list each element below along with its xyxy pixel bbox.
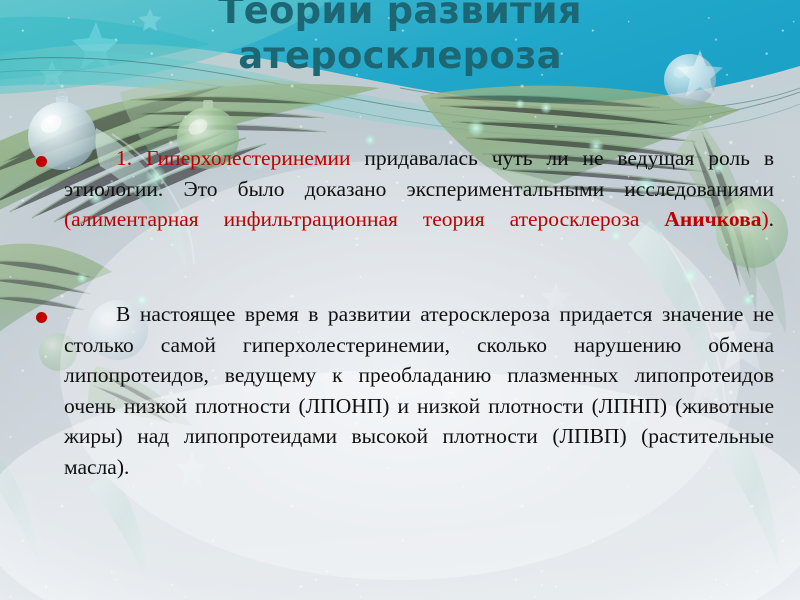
bullet-item: 1. Гиперхолестеринемии придавалась чуть … <box>22 143 774 265</box>
slide-title: Теории развития атеросклероза <box>0 0 800 78</box>
bullet-paragraph-1: 1. Гиперхолестеринемии придавалась чуть … <box>64 143 774 265</box>
text-segment: . <box>769 207 774 231</box>
bullet-item: В настоящее время в развитии атеросклеро… <box>22 299 774 482</box>
bullet-paragraph-2: В настоящее время в развитии атеросклеро… <box>64 299 774 482</box>
bullet-marker-icon <box>36 312 47 323</box>
text-segment: В настоящее время в развитии атеросклеро… <box>64 302 774 479</box>
text-segment: 1. Гиперхолестеринемии <box>116 146 351 170</box>
slide-title-text: Теории развития атеросклероза <box>22 0 778 78</box>
bullet-marker-icon <box>36 156 47 167</box>
slide-body: 1. Гиперхолестеринемии придавалась чуть … <box>0 143 800 502</box>
text-segment: ) <box>761 207 768 231</box>
text-segment: Аничкова <box>664 207 761 231</box>
presentation-slide: Теории развития атеросклероза 1. Гиперхо… <box>0 0 800 600</box>
text-segment: (алиментарная инфильтрационная теория ат… <box>64 207 664 231</box>
